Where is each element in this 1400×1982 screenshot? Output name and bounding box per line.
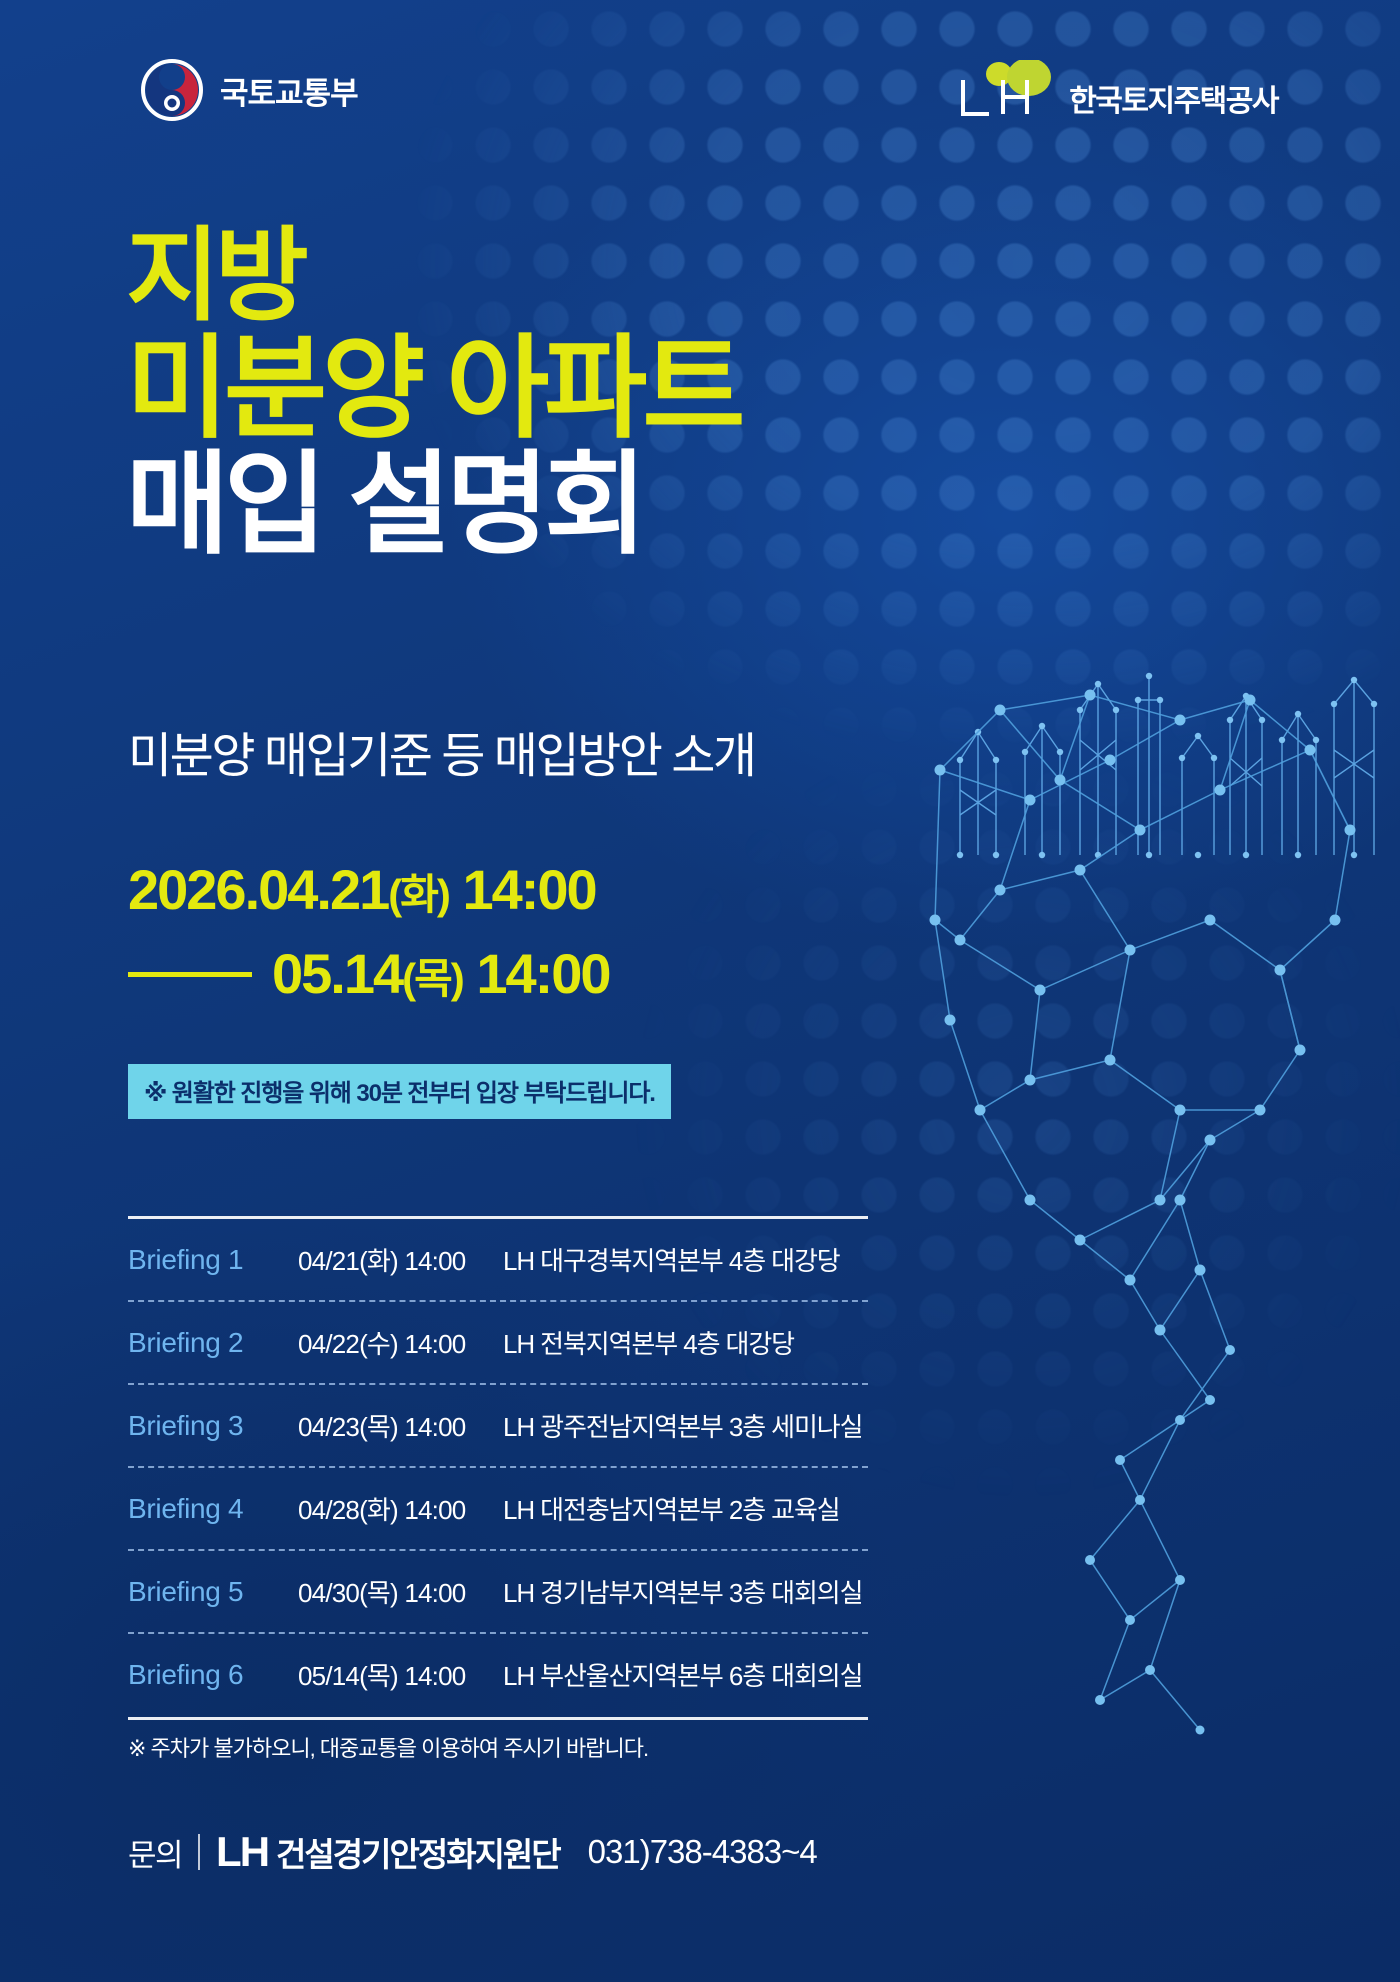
date-range-dash-icon (128, 972, 252, 977)
headline-line-2: 미분양 아파트 (126, 332, 740, 446)
briefing-datetime: 04/21(화) 14:00 (298, 1241, 503, 1278)
ministry-logo: 국토교통부 (140, 58, 358, 122)
briefing-schedule-table: Briefing 1 04/21(화) 14:00 LH 대구경북지역본부 4층… (128, 1216, 868, 1720)
briefing-venue: LH 전북지역본부 4층 대강당 (503, 1324, 868, 1361)
korea-map-network-graphic (880, 640, 1400, 1800)
briefing-datetime: 04/22(수) 14:00 (298, 1324, 503, 1361)
briefing-label: Briefing 5 (128, 1576, 298, 1608)
headline-line-3: 매입 설명회 (126, 448, 740, 562)
table-row: Briefing 5 04/30(목) 14:00 LH 경기남부지역본부 3층… (128, 1551, 868, 1632)
briefing-datetime: 05/14(목) 14:00 (298, 1656, 503, 1693)
table-row: Briefing 1 04/21(화) 14:00 LH 대구경북지역본부 4층… (128, 1219, 868, 1300)
start-time: 14:00 (462, 858, 595, 921)
end-date-text: 05.14(목) 14:00 (272, 944, 610, 1004)
contact-team-name: 건설경기안정화지원단 (276, 1828, 560, 1876)
briefing-label: Briefing 6 (128, 1659, 298, 1691)
start-date: 2026.04.21 (128, 858, 388, 921)
briefing-venue: LH 대전충남지역본부 2층 교육실 (503, 1490, 868, 1527)
table-row: Briefing 3 04/23(목) 14:00 LH 광주전남지역본부 3층… (128, 1385, 868, 1466)
briefing-label: Briefing 2 (128, 1327, 298, 1359)
parking-note: ※ 주차가 불가하오니, 대중교통을 이용하여 주시기 바랍니다. (128, 1731, 648, 1763)
headline-line-1: 지방 (126, 224, 740, 328)
start-weekday: (화) (388, 871, 449, 918)
contact-lh-wordmark: LH (216, 1828, 268, 1876)
contact-footer: 문의 LH 건설경기안정화지원단 031)738-4383~4 (128, 1828, 817, 1876)
end-time: 14:00 (476, 942, 609, 1005)
end-date: 05.14 (272, 942, 402, 1005)
lh-logo: 한국토지주택공사 (955, 60, 1278, 122)
lh-logo-label: 한국토지주택공사 (1069, 76, 1278, 122)
contact-label: 문의 (128, 1830, 182, 1875)
contact-phone-number: 031)738-4383~4 (588, 1833, 817, 1871)
briefing-label: Briefing 4 (128, 1493, 298, 1525)
logo-row: 국토교통부 한국토지주택공사 (0, 58, 1400, 134)
briefing-datetime: 04/28(화) 14:00 (298, 1490, 503, 1527)
briefing-venue: LH 광주전남지역본부 3층 세미나실 (503, 1407, 868, 1444)
briefing-label: Briefing 3 (128, 1410, 298, 1442)
event-end-date-line: 05.14(목) 14:00 (128, 944, 728, 1004)
briefing-label: Briefing 1 (128, 1244, 298, 1276)
table-row: Briefing 2 04/22(수) 14:00 LH 전북지역본부 4층 대… (128, 1302, 868, 1383)
briefing-venue: LH 경기남부지역본부 3층 대회의실 (503, 1573, 868, 1610)
entry-notice-banner: ※ 원활한 진행을 위해 30분 전부터 입장 부탁드립니다. (128, 1064, 671, 1119)
event-date-block: 2026.04.21(화) 14:00 05.14(목) 14:00 (128, 860, 728, 1005)
table-top-rule (128, 1216, 868, 1219)
lh-symbol-icon (955, 60, 1059, 122)
event-start-date-line: 2026.04.21(화) 14:00 (128, 860, 728, 920)
briefing-venue: LH 대구경북지역본부 4층 대강당 (503, 1241, 868, 1278)
end-weekday: (목) (402, 955, 463, 1002)
poster-subtitle: 미분양 매입기준 등 매입방안 소개 (128, 716, 755, 786)
table-bottom-rule (128, 1717, 868, 1720)
briefing-venue: LH 부산울산지역본부 6층 대회의실 (503, 1656, 868, 1693)
ministry-logo-label: 국토교통부 (220, 68, 358, 113)
contact-divider (198, 1834, 200, 1870)
taegeuk-icon (140, 58, 204, 122)
table-row: Briefing 4 04/28(화) 14:00 LH 대전충남지역본부 2층… (128, 1468, 868, 1549)
poster-headline: 지방 미분양 아파트 매입 설명회 (126, 224, 740, 563)
table-row: Briefing 6 05/14(목) 14:00 LH 부산울산지역본부 6층… (128, 1634, 868, 1715)
briefing-datetime: 04/30(목) 14:00 (298, 1573, 503, 1610)
briefing-datetime: 04/23(목) 14:00 (298, 1407, 503, 1444)
